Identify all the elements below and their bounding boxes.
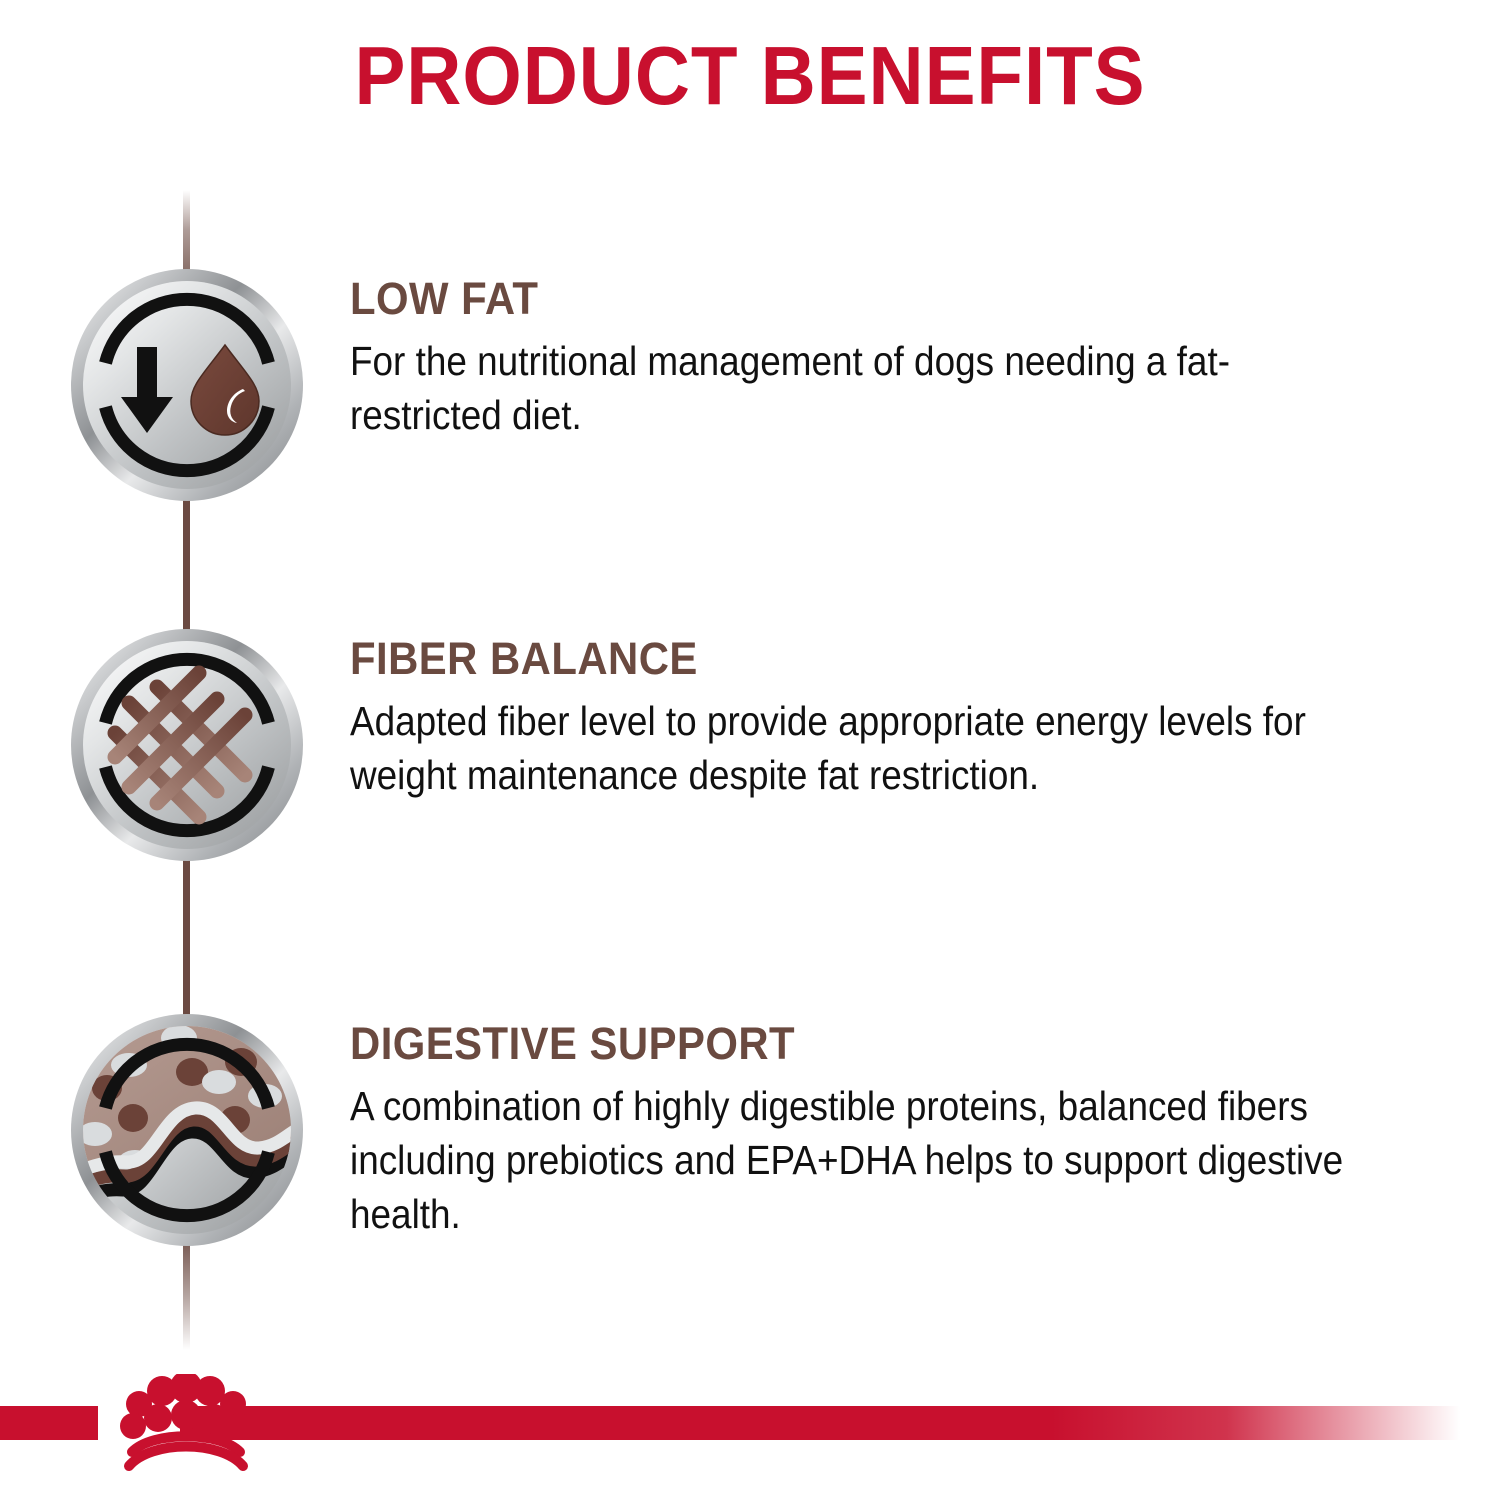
page-title: PRODUCT BENEFITS	[60, 34, 1440, 117]
benefit-text-low-fat: LOW FAT For the nutritional management o…	[350, 275, 1460, 442]
benefit-body: For the nutritional management of dogs n…	[350, 334, 1349, 442]
connector-rail-segment-2	[183, 855, 190, 1035]
benefit-text-fiber-balance: FIBER BALANCE Adapted fiber level to pro…	[350, 635, 1460, 802]
digestive-support-icon	[67, 1010, 307, 1250]
royal-canin-crown-logo	[96, 1374, 276, 1480]
benefit-body: A combination of highly digestible prote…	[350, 1079, 1349, 1241]
benefit-heading: FIBER BALANCE	[350, 635, 1382, 682]
benefit-body: Adapted fiber level to provide appropria…	[350, 694, 1349, 802]
low-fat-icon	[67, 265, 307, 505]
benefit-heading: DIGESTIVE SUPPORT	[350, 1020, 1382, 1067]
product-benefits-page: PRODUCT BENEFITS	[0, 0, 1500, 1500]
benefit-text-digestive-support: DIGESTIVE SUPPORT A combination of highl…	[350, 1020, 1460, 1242]
fiber-balance-icon	[67, 625, 307, 865]
benefit-heading: LOW FAT	[350, 275, 1382, 322]
